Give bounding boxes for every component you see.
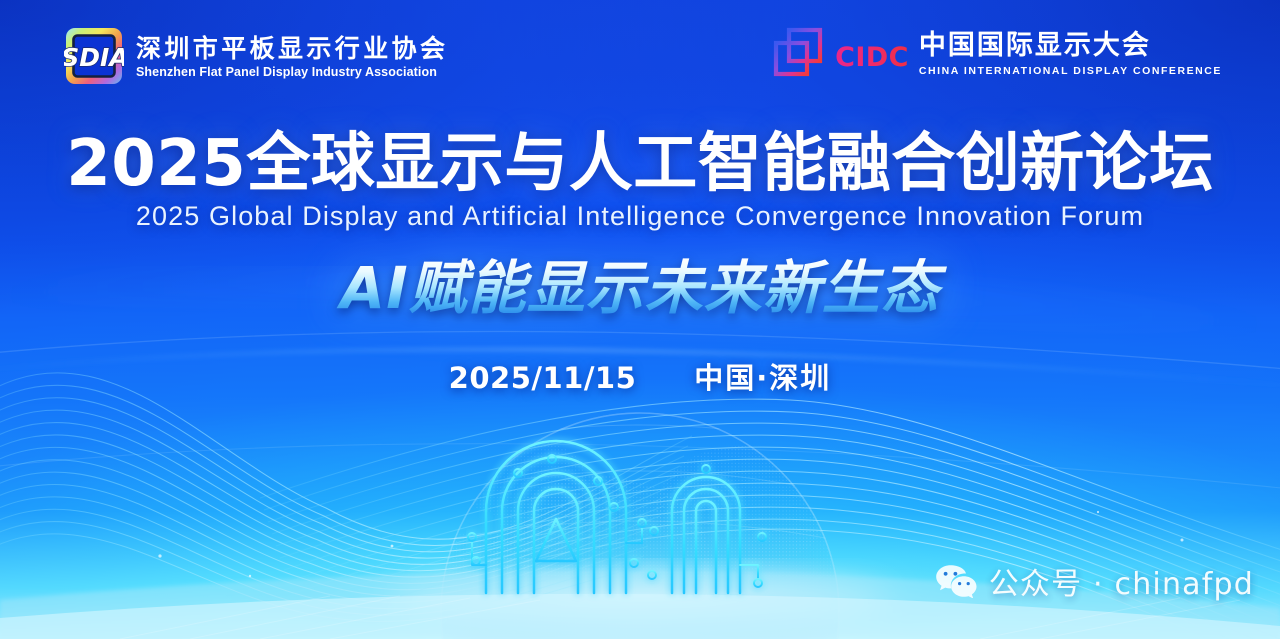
cidc-logo-text: 中国国际显示大会 CHINA INTERNATIONAL DISPLAY CON… <box>919 28 1222 77</box>
sdia-logo-mark: SDIA <box>64 26 124 86</box>
main-title-en: 2025 Global Display and Artificial Intel… <box>0 203 1280 230</box>
slogan-cn: AI赋能显示未来新生态 <box>0 258 1280 319</box>
cidc-name-en: CHINA INTERNATIONAL DISPLAY CONFERENCE <box>919 66 1222 77</box>
event-location: 中国·深圳 <box>694 355 831 397</box>
sdia-logo: SDIA 深圳市平板显示行业协会 Shenzhen Flat Panel Dis… <box>64 26 448 86</box>
ai-circuit-emblem <box>466 415 814 605</box>
main-title-cn: 2025全球显示与人工智能融合创新论坛 <box>0 132 1280 196</box>
cidc-abbr: CIDC <box>835 42 919 73</box>
wechat-watermark: 公众号 · chinafpd <box>935 559 1254 603</box>
poster-canvas: SDIA 深圳市平板显示行业协会 Shenzhen Flat Panel Dis… <box>0 0 1280 639</box>
sdia-name-cn: 深圳市平板显示行业协会 <box>136 36 448 61</box>
sdia-mark-abbr: SDIA <box>64 43 124 72</box>
cidc-logo: CIDC 中国国际显示大会 CHINA INTERNATIONAL DISPLA… <box>772 27 1222 77</box>
event-meta: 2025/11/15 中国·深圳 <box>0 355 1280 397</box>
sdia-name-en: Shenzhen Flat Panel Display Industry Ass… <box>136 66 448 79</box>
cidc-logo-mark <box>772 27 824 77</box>
cidc-name-cn: 中国国际显示大会 <box>919 32 1222 59</box>
ai-letter-i <box>672 477 740 593</box>
poster-header: SDIA 深圳市平板显示行业协会 Shenzhen Flat Panel Dis… <box>0 0 1280 112</box>
wechat-icon <box>935 564 977 598</box>
wechat-handle: 公众号 · chinafpd <box>989 559 1254 603</box>
sdia-logo-text: 深圳市平板显示行业协会 Shenzhen Flat Panel Display … <box>136 34 448 79</box>
event-date: 2025/11/15 <box>449 361 637 395</box>
cidc-logo-content: CIDC 中国国际显示大会 CHINA INTERNATIONAL DISPLA… <box>835 28 1222 77</box>
ai-letter-a <box>486 441 626 593</box>
